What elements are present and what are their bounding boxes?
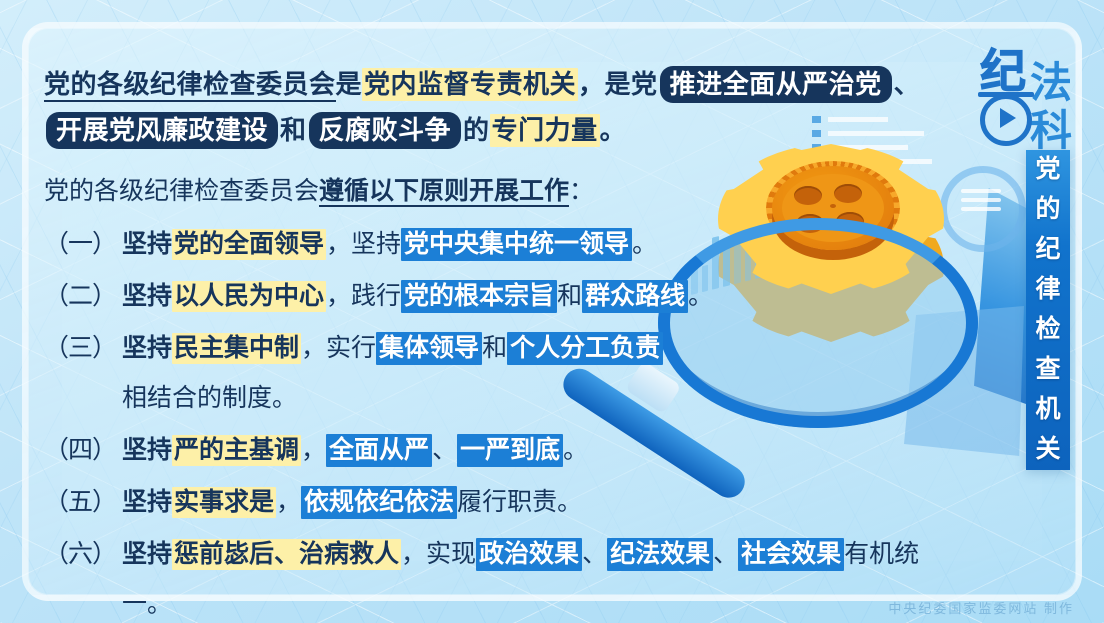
plain-text: ，坚持 xyxy=(326,231,401,258)
highlight-yellow: 党内监督专责机关 xyxy=(362,68,578,101)
bold-term: 坚持 xyxy=(122,541,172,568)
section-title-prefix: 党的各级纪律检查委员会 xyxy=(44,178,319,205)
principle-marker: （六） xyxy=(44,530,122,580)
principle-marker: （四） xyxy=(44,426,122,476)
principles-list: （一）坚持党的全面领导，坚持党中央集中统一领导。（二）坚持以人民为中心，践行党的… xyxy=(44,220,944,623)
highlight-dark-pill: 推进全面从严治党 xyxy=(660,66,892,103)
principle-text: 坚持以人民为中心，践行党的根本宗旨和群众路线。 xyxy=(122,272,944,322)
vertical-title-char: 党 xyxy=(1035,150,1060,190)
section-title-emphasis: 遵循以下原则开展工作 xyxy=(319,178,569,207)
vertical-title-char: 查 xyxy=(1035,350,1060,390)
principle-text: 坚持严的主基调，全面从严、一严到底。 xyxy=(122,426,944,476)
vertical-title-char: 的 xyxy=(1035,190,1060,230)
highlight-blue: 党中央集中统一领导 xyxy=(401,228,632,261)
plain-text: 。 xyxy=(688,283,713,310)
plain-text: 和 xyxy=(482,335,507,362)
principle-text: 坚持惩前毖后、治病救人，实现政治效果、纪法效果、社会效果有机统一。 xyxy=(122,530,944,623)
principle-continuation: 相结合的制度。 xyxy=(122,374,944,424)
section-title-suffix: ： xyxy=(569,178,594,205)
principle-item: （四）坚持严的主基调，全面从严、一严到底。 xyxy=(44,426,944,476)
logo-char-fa: 法 xyxy=(1030,62,1072,104)
plain-text: ， xyxy=(276,489,301,516)
highlight-blue: 群众路线 xyxy=(582,280,688,313)
principle-item: （一）坚持党的全面领导，坚持党中央集中统一领导。 xyxy=(44,220,944,270)
highlight-yellow: 以人民为中心 xyxy=(172,281,326,312)
highlight-blue: 一严到底 xyxy=(457,434,563,467)
footer-credit: 中央纪委国家监委网站 制作 xyxy=(888,598,1074,617)
highlight-yellow: 惩前毖后、治病救人 xyxy=(172,539,401,570)
plain-text: 。 xyxy=(563,437,588,464)
logo-char-bai-bar xyxy=(978,92,1034,97)
play-icon xyxy=(1000,108,1016,128)
logo-char-ji: 纪 xyxy=(980,48,1024,94)
plain-text: ，是党 xyxy=(578,70,658,99)
infographic-poster: 党的各级纪律检查委员会是党内监督专责机关，是党推进全面从严治党、开展党风廉政建设… xyxy=(0,0,1104,623)
vertical-title-char: 机 xyxy=(1035,390,1060,430)
highlight-blue: 纪法效果 xyxy=(607,538,713,571)
highlight-blue: 集体领导 xyxy=(376,332,482,365)
bold-term: 坚持 xyxy=(122,283,172,310)
plain-text: 是 xyxy=(336,70,363,99)
plain-text: 、 xyxy=(713,541,738,568)
principle-text: 坚持党的全面领导，坚持党中央集中统一领导。 xyxy=(122,220,944,270)
highlight-yellow: 民主集中制 xyxy=(172,333,301,364)
plain-text: 、 xyxy=(894,70,921,99)
section-title: 党的各级纪律检查委员会遵循以下原则开展工作： xyxy=(44,170,944,214)
principle-item: （二）坚持以人民为中心，践行党的根本宗旨和群众路线。 xyxy=(44,272,944,322)
vertical-title-band: 党的纪律检查机关 xyxy=(1026,150,1070,470)
principle-text: 坚持民主集中制，实行集体领导和个人分工负责相结合的制度。 xyxy=(122,324,944,424)
plain-text: 和 xyxy=(557,283,582,310)
highlight-blue: 个人分工负责 xyxy=(507,332,663,365)
principle-marker: （一） xyxy=(44,220,122,270)
plain-text: 的 xyxy=(463,116,490,145)
vertical-title-char: 律 xyxy=(1035,270,1060,310)
highlight-yellow: 实事求是 xyxy=(172,487,276,518)
ring-lines xyxy=(961,189,1001,216)
plain-text: 。 xyxy=(632,231,657,258)
vertical-title-char: 纪 xyxy=(1035,230,1060,270)
plain-text: 和 xyxy=(280,116,307,145)
plain-text: ，践行 xyxy=(326,283,401,310)
underlined-term: 党的各级纪律检查委员会 xyxy=(44,70,336,102)
plain-text: ， xyxy=(301,437,326,464)
highlight-dark-pill: 反腐败斗争 xyxy=(309,112,462,149)
highlight-blue: 社会效果 xyxy=(738,538,844,571)
vertical-title-char: 关 xyxy=(1035,430,1060,470)
highlight-yellow: 严的主基调 xyxy=(172,435,301,466)
plain-text: 、 xyxy=(582,541,607,568)
logo-char-ke: 科 xyxy=(1030,110,1072,152)
bold-term: 坚持 xyxy=(122,437,172,464)
highlight-blue: 党的根本宗旨 xyxy=(401,280,557,313)
highlight-blue: 依规依纪依法 xyxy=(301,486,457,519)
highlight-blue: 全面从严 xyxy=(326,434,432,467)
bold-term: 坚持 xyxy=(122,231,172,258)
content-column: 党的各级纪律检查委员会是党内监督专责机关，是党推进全面从严治党、开展党风廉政建设… xyxy=(44,62,944,623)
highlight-yellow: 专门力量 xyxy=(490,114,600,147)
principle-text: 坚持实事求是，依规依纪依法履行职责。 xyxy=(122,478,944,528)
plain-text: ，实行 xyxy=(301,335,376,362)
plain-text: 履行职责。 xyxy=(457,489,582,516)
logo-jifabaike[interactable]: 纪 法 科 xyxy=(978,48,1084,164)
vertical-title-char: 检 xyxy=(1035,310,1060,350)
principle-item: （六）坚持惩前毖后、治病救人，实现政治效果、纪法效果、社会效果有机统一。 xyxy=(44,530,944,623)
plain-text: 、 xyxy=(432,437,457,464)
highlight-blue: 政治效果 xyxy=(476,538,582,571)
principle-marker: （五） xyxy=(44,478,122,528)
principle-marker: （二） xyxy=(44,272,122,322)
bold-term: 坚持 xyxy=(122,489,172,516)
highlight-yellow: 党的全面领导 xyxy=(172,229,326,260)
bold-term: 坚持 xyxy=(122,335,172,362)
principle-item: （三）坚持民主集中制，实行集体领导和个人分工负责相结合的制度。 xyxy=(44,324,944,424)
lead-paragraph: 党的各级纪律检查委员会是党内监督专责机关，是党推进全面从严治党、开展党风廉政建设… xyxy=(44,62,944,154)
highlight-dark-pill: 开展党风廉政建设 xyxy=(46,112,278,149)
principle-item: （五）坚持实事求是，依规依纪依法履行职责。 xyxy=(44,478,944,528)
principle-marker: （三） xyxy=(44,324,122,374)
plain-text: ，实现 xyxy=(401,541,476,568)
plain-text: 。 xyxy=(600,116,627,145)
